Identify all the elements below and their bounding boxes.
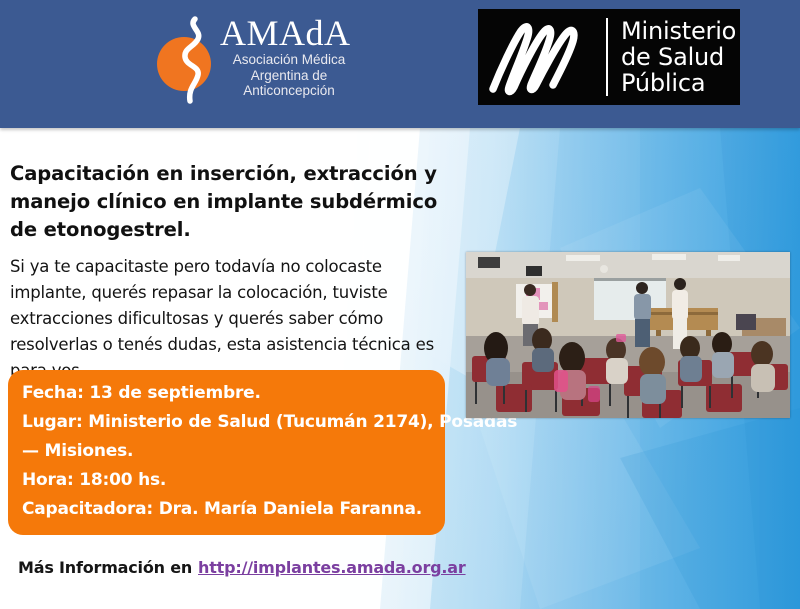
- amada-subtitle-line-2: Argentina de: [220, 69, 358, 84]
- amada-wordmark: AMAdA Asociación Médica Argentina de Ant…: [220, 14, 360, 99]
- more-info-label: Más Información en: [18, 558, 192, 577]
- amada-subtitle-line-1: Asociación Médica: [220, 53, 358, 68]
- event-detail-trainer: Capacitadora: Dra. María Daniela Faranna…: [22, 495, 445, 524]
- training-session-photo: [466, 252, 790, 418]
- ministerio-line-2: de Salud: [621, 44, 740, 70]
- ministerio-line-1: Ministerio: [621, 18, 740, 44]
- page-title: Capacitación en inserción, extracción y …: [10, 160, 465, 244]
- event-detail-venue-cont: — Misiones.: [22, 437, 445, 466]
- amada-subtitle-line-3: Anticoncepción: [220, 84, 358, 99]
- more-info-line: Más Información enhttp://implantes.amada…: [18, 558, 466, 577]
- more-info-link[interactable]: http://implantes.amada.org.ar: [198, 558, 466, 577]
- body-paragraph: Si ya te capacitaste pero todavía no col…: [10, 254, 460, 384]
- event-detail-date: Fecha: 13 de septiembre.: [22, 379, 445, 408]
- amada-logo: AMAdA Asociación Médica Argentina de Ant…: [148, 8, 358, 112]
- event-detail-time: Hora: 18:00 hs.: [22, 466, 445, 495]
- event-details-box: Fecha: 13 de septiembre. Lugar: Minister…: [8, 370, 445, 535]
- event-detail-venue: Lugar: Ministerio de Salud (Tucumán 2174…: [22, 408, 445, 437]
- ministerio-wordmark: Ministerio de Salud Pública: [608, 18, 740, 96]
- ministerio-line-3: Pública: [621, 70, 740, 96]
- amada-acronym: AMAdA: [220, 14, 360, 52]
- flyer-page: AMAdA Asociación Médica Argentina de Ant…: [0, 0, 800, 609]
- ministerio-salud-m-mark-icon: [478, 9, 606, 105]
- ministerio-salud-logo: Ministerio de Salud Pública: [478, 9, 740, 105]
- amada-serpent-circle-logo-icon: [148, 16, 226, 104]
